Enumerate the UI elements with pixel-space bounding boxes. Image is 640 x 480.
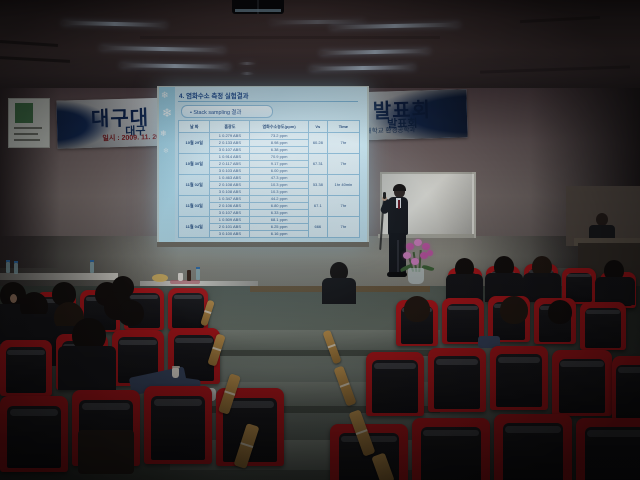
table-cell-vs: 67.1 [308, 196, 327, 217]
table-col-header: Time [327, 121, 359, 133]
seat-gloss [82, 403, 131, 410]
seat-gloss [567, 274, 591, 277]
seat[interactable] [0, 396, 68, 472]
table-cell-ppm: 10.3 ppm [250, 189, 309, 196]
table-cell-absorbance: 3 0.107 ABS [210, 210, 250, 217]
water-bottle [90, 262, 94, 273]
table-cell-ppm: 6.38 ppm [250, 147, 309, 154]
table-cell-ppm: 6.33 ppm [250, 210, 309, 217]
table-cell-vs: 67.31 [308, 154, 327, 175]
bottle-cap [14, 261, 18, 263]
table-row: 11월 03일1 0.347 ABS44.2 ppm67.17hr [179, 196, 360, 203]
water-bottle [6, 262, 10, 273]
bag [78, 430, 134, 474]
audience-torso [322, 278, 356, 304]
seat-gloss [119, 340, 156, 345]
table-cell-time: 1hr 40min [327, 175, 359, 196]
audience-face [10, 294, 17, 303]
seat[interactable] [0, 340, 52, 396]
table-cell-date: 11월 02일 [179, 175, 210, 196]
slide-title: 4. 염화수소 측정 실험결과 [179, 91, 248, 100]
seat[interactable] [552, 350, 612, 416]
seat-back [585, 308, 621, 347]
table-cell-ppm: 44.2 ppm [250, 196, 309, 203]
projector-split [257, 0, 259, 14]
orchid-flower [427, 250, 433, 256]
poster-text-line [14, 127, 42, 129]
presenter-hair [393, 184, 406, 191]
armrest-band [204, 310, 211, 314]
bottle-cap [90, 260, 94, 262]
table-cell-ppm: 68.1 ppm [250, 217, 309, 224]
audience-head [118, 300, 144, 326]
presenter-tie [398, 200, 400, 209]
table-row: 11월 02일1 0.463 ABS47.3 ppm53.381hr 40min [179, 175, 360, 182]
seat-gloss [7, 350, 44, 355]
orchid-flower [414, 239, 422, 246]
seat[interactable] [412, 418, 490, 480]
seat[interactable] [612, 356, 640, 422]
seat-gloss [448, 306, 478, 310]
audience-head [404, 296, 430, 322]
drink-bottle [187, 270, 191, 281]
table-cell-absorbance: 3 0.100 ABS [210, 231, 250, 238]
water-bottle [14, 263, 18, 274]
seat-gloss [175, 338, 212, 343]
seat-gloss [226, 401, 275, 408]
microphone-icon [383, 192, 386, 199]
table-cell-vs: 60.28 [308, 133, 327, 154]
table-cell-date: 10월 30일 [179, 154, 210, 175]
table-header-row: 날 짜흡광도염화수소농도(ppm)VsTime [179, 121, 360, 133]
bottle-cap [6, 260, 10, 262]
table-col-header: 염화수소농도(ppm) [250, 121, 309, 133]
table-cell-absorbance: 1 0.914 ABS [210, 154, 250, 161]
seat-gloss [174, 295, 203, 299]
projector-mount [238, 62, 256, 65]
table-cell-date: 11월 03일 [179, 196, 210, 217]
coffee-cup [172, 368, 179, 378]
orchid-flower [422, 243, 430, 250]
presenter-leg-split [397, 240, 399, 272]
snack-plate [152, 274, 168, 282]
slide-data-table: 날 짜흡광도염화수소농도(ppm)VsTime 10월 29일1 0.279 A… [178, 120, 360, 238]
table-cell-absorbance: 2 0.117 ABS [210, 161, 250, 168]
table-cell-absorbance: 2 0.101 ABS [210, 224, 250, 231]
table-cell-absorbance: 2 0.108 ABS [210, 182, 250, 189]
table-col-header: 날 짜 [179, 121, 210, 133]
table-cell-time: 7hr [327, 196, 359, 217]
seat-gloss [618, 367, 640, 373]
table-cell-time: 7hr [327, 154, 359, 175]
seat[interactable] [580, 302, 626, 350]
table-cell-ppm: 9.17 ppm [250, 161, 309, 168]
snowflake-icon: ❄ [160, 129, 167, 138]
wall-poster [8, 98, 50, 148]
paper-cup [178, 273, 183, 281]
ceiling-tint [0, 0, 640, 92]
table-mat [170, 280, 200, 284]
table-cell-date: 10월 29일 [179, 133, 210, 154]
table-cell-time: 7hr [327, 133, 359, 154]
seat-gloss [505, 426, 561, 432]
lecture-hall-photo: 대구대 발표회 대구 발표회 일시 : 2009. 11. 20(금) 대구대학… [0, 0, 640, 480]
table-cell-ppm: 8.98 ppm [250, 140, 309, 147]
table-cell-absorbance: 1 0.463 ABS [210, 175, 250, 182]
armrest-band [240, 442, 253, 448]
table-cell-absorbance: 2 0.133 ABS [210, 140, 250, 147]
seat-gloss [498, 357, 540, 363]
table-cell-time: 7hr [327, 217, 359, 238]
poster-text-line [14, 139, 40, 141]
audience-head [500, 296, 528, 324]
seat[interactable] [494, 414, 572, 480]
table-cell-ppm: 10.3 ppm [250, 182, 309, 189]
table-row: 11월 04일1 0.509 ABS68.1 ppm6667hr [179, 217, 360, 224]
seat[interactable] [490, 346, 548, 410]
table-cell-absorbance: 1 0.509 ABS [210, 217, 250, 224]
snowflake-icon: ❄ [161, 91, 169, 100]
table-cell-date: 11월 04일 [179, 217, 210, 238]
bottle-cap [196, 267, 200, 269]
table-cell-absorbance: 2 0.106 ABS [210, 203, 250, 210]
table-cell-vs: 666 [308, 217, 327, 238]
orchid-flower [403, 252, 411, 259]
snowflake-icon: ❄ [162, 109, 172, 118]
armrest-band [340, 382, 350, 387]
audience-head [548, 300, 572, 324]
orchid-flower [411, 258, 419, 265]
armrest-band [212, 347, 221, 352]
table-cell-ppm: 6.80 ppm [250, 203, 309, 210]
seat-gloss [423, 430, 479, 436]
seat[interactable] [366, 352, 424, 416]
screen-bottom-bar [157, 242, 369, 247]
seat-gloss [154, 399, 203, 406]
coffee-cup-lid [172, 366, 180, 368]
table-cell-absorbance: 3 0.107 ABS [210, 147, 250, 154]
table-cell-absorbance: 3 0.103 ABS [210, 168, 250, 175]
poster-text-line [14, 133, 38, 135]
left-table-shading [0, 273, 118, 280]
table-cell-ppm: 47.3 ppm [250, 175, 309, 182]
water-bottle [196, 269, 200, 280]
table-col-header: Vs [308, 121, 327, 133]
projection-screen: ❄ ❄ ❄ ❄ 4. 염화수소 측정 실험결과 • Stack sampling… [159, 87, 367, 242]
seat-gloss [436, 359, 478, 365]
table-cell-vs: 53.38 [308, 175, 327, 196]
seat-gloss [130, 295, 159, 299]
projector-mount [240, 72, 254, 75]
ceiling-projector [232, 0, 284, 14]
table-cell-ppm: 73.2 ppm [250, 133, 309, 140]
table-col-header: 흡광도 [210, 121, 250, 133]
table-row: 10월 30일1 0.914 ABS70.9 ppm67.317hr [179, 154, 360, 161]
audience-torso [58, 346, 116, 390]
seat[interactable] [576, 418, 640, 480]
orchid-flower [406, 243, 414, 250]
table-cell-ppm: 6.00 ppm [250, 168, 309, 175]
slide-bullet-text: • Stack sampling 결과 [190, 108, 241, 116]
seat[interactable] [428, 348, 486, 412]
armrest-band [224, 390, 235, 395]
slide-title-rule [178, 101, 358, 102]
table-cell-ppm: 6.16 ppm [250, 231, 309, 238]
seat-gloss [374, 363, 416, 369]
presenter-shoes [387, 272, 407, 277]
table-cell-absorbance: 1 0.347 ABS [210, 196, 250, 203]
flower-vase [408, 268, 424, 284]
snowflake-icon: ❄ [163, 147, 169, 156]
ceiling-beam [140, 36, 440, 39]
seat-gloss [560, 361, 603, 367]
table-cell-ppm: 70.9 ppm [250, 154, 309, 161]
armrest-band [328, 344, 336, 349]
seat[interactable] [144, 386, 212, 464]
armrest-band [356, 429, 368, 435]
table-row: 10월 29일1 0.279 ABS73.2 ppm60.287hr [179, 133, 360, 140]
seat-gloss [587, 430, 640, 436]
seat-gloss [10, 409, 59, 416]
poster-graphic [15, 103, 33, 123]
seat-gloss [586, 310, 619, 314]
audience-torso [595, 277, 635, 305]
table-cell-absorbance: 1 0.279 ABS [210, 133, 250, 140]
table-cell-absorbance: 3 0.108 ABS [210, 189, 250, 196]
table-cell-ppm: 6.25 ppm [250, 224, 309, 231]
slide-bullet-box: • Stack sampling 결과 [181, 105, 273, 118]
